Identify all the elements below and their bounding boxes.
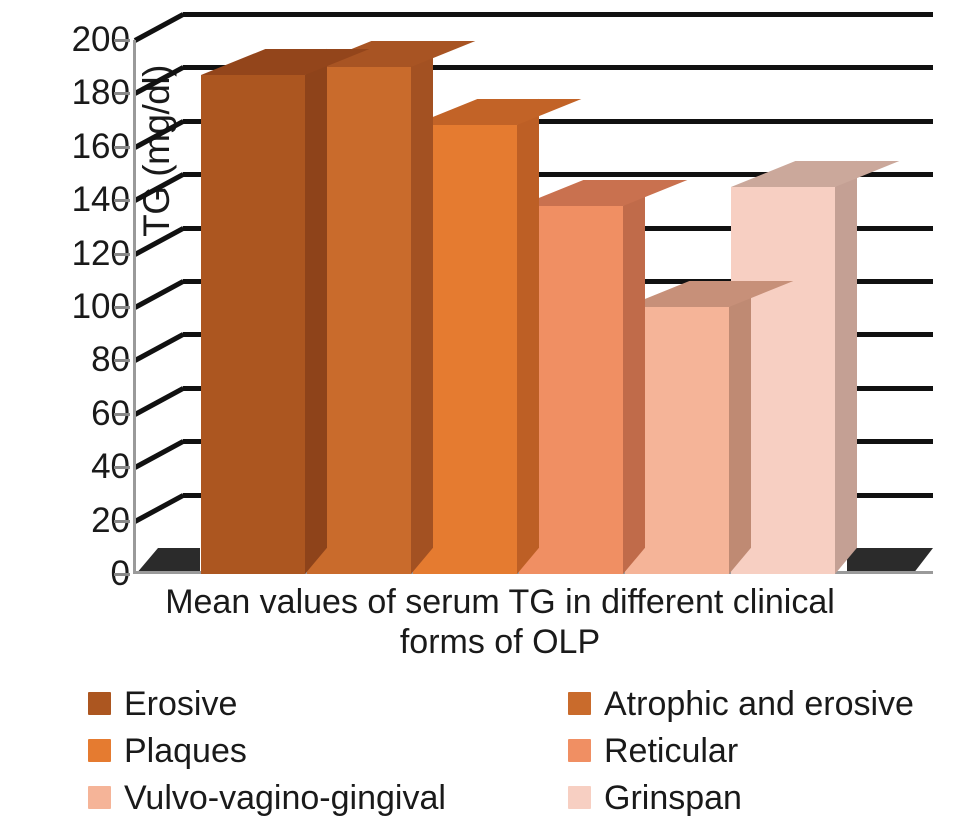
y-tick-mark-40	[114, 466, 130, 469]
legend-item-grinspan[interactable]: Grinspan	[568, 781, 968, 815]
bar-top-face	[731, 161, 899, 187]
legend-label: Grinspan	[604, 781, 742, 815]
y-tick-mark-60	[114, 413, 130, 416]
bar-side-face	[411, 40, 433, 574]
y-axis-tick-labels: 200180160140120100806040200	[52, 0, 130, 600]
bar-top-face	[413, 99, 581, 125]
legend-label: Reticular	[604, 734, 738, 768]
legend-swatch-icon	[568, 786, 591, 809]
bar-top-face	[519, 180, 687, 206]
legend-item-vulvo-vagino-gingival[interactable]: Vulvo-vagino-gingival	[88, 781, 568, 815]
chart-figure: TG (mg/dl) 200180160140120100806040200 M…	[0, 0, 969, 832]
bar-side-face	[835, 161, 857, 574]
bar-front-face	[201, 75, 305, 574]
x-axis-caption-line-2: forms of OLP	[150, 622, 850, 662]
legend-swatch-icon	[88, 739, 111, 762]
x-axis-caption-line-1: Mean values of serum TG in different cli…	[150, 582, 850, 622]
plot-area	[133, 8, 933, 580]
legend-item-plaques[interactable]: Plaques	[88, 734, 568, 768]
bar-side-face	[517, 99, 539, 574]
y-tick-mark-100	[114, 306, 130, 309]
y-tick-mark-200	[114, 39, 130, 42]
legend-swatch-icon	[568, 739, 591, 762]
bar-side-face	[305, 49, 327, 574]
bar-side-face	[729, 281, 751, 574]
bar-series	[133, 8, 933, 580]
y-tick-mark-120	[114, 253, 130, 256]
legend-item-atrophic-and-erosive[interactable]: Atrophic and erosive	[568, 687, 968, 721]
legend-label: Vulvo-vagino-gingival	[124, 781, 446, 815]
y-tick-mark-80	[114, 359, 130, 362]
chart-legend: ErosiveAtrophic and erosivePlaquesReticu…	[88, 680, 948, 821]
bar-erosive[interactable]	[201, 75, 305, 574]
y-tick-mark-0	[114, 573, 130, 576]
y-tick-mark-140	[114, 199, 130, 202]
legend-label: Erosive	[124, 687, 237, 721]
legend-swatch-icon	[88, 692, 111, 715]
legend-label: Atrophic and erosive	[604, 687, 914, 721]
legend-item-erosive[interactable]: Erosive	[88, 687, 568, 721]
y-tick-mark-180	[114, 92, 130, 95]
legend-swatch-icon	[568, 692, 591, 715]
x-axis-caption: Mean values of serum TG in different cli…	[150, 582, 850, 662]
y-tick-mark-160	[114, 146, 130, 149]
legend-item-reticular[interactable]: Reticular	[568, 734, 968, 768]
legend-label: Plaques	[124, 734, 247, 768]
legend-swatch-icon	[88, 786, 111, 809]
bar-side-face	[623, 179, 645, 574]
y-tick-mark-20	[114, 520, 130, 523]
